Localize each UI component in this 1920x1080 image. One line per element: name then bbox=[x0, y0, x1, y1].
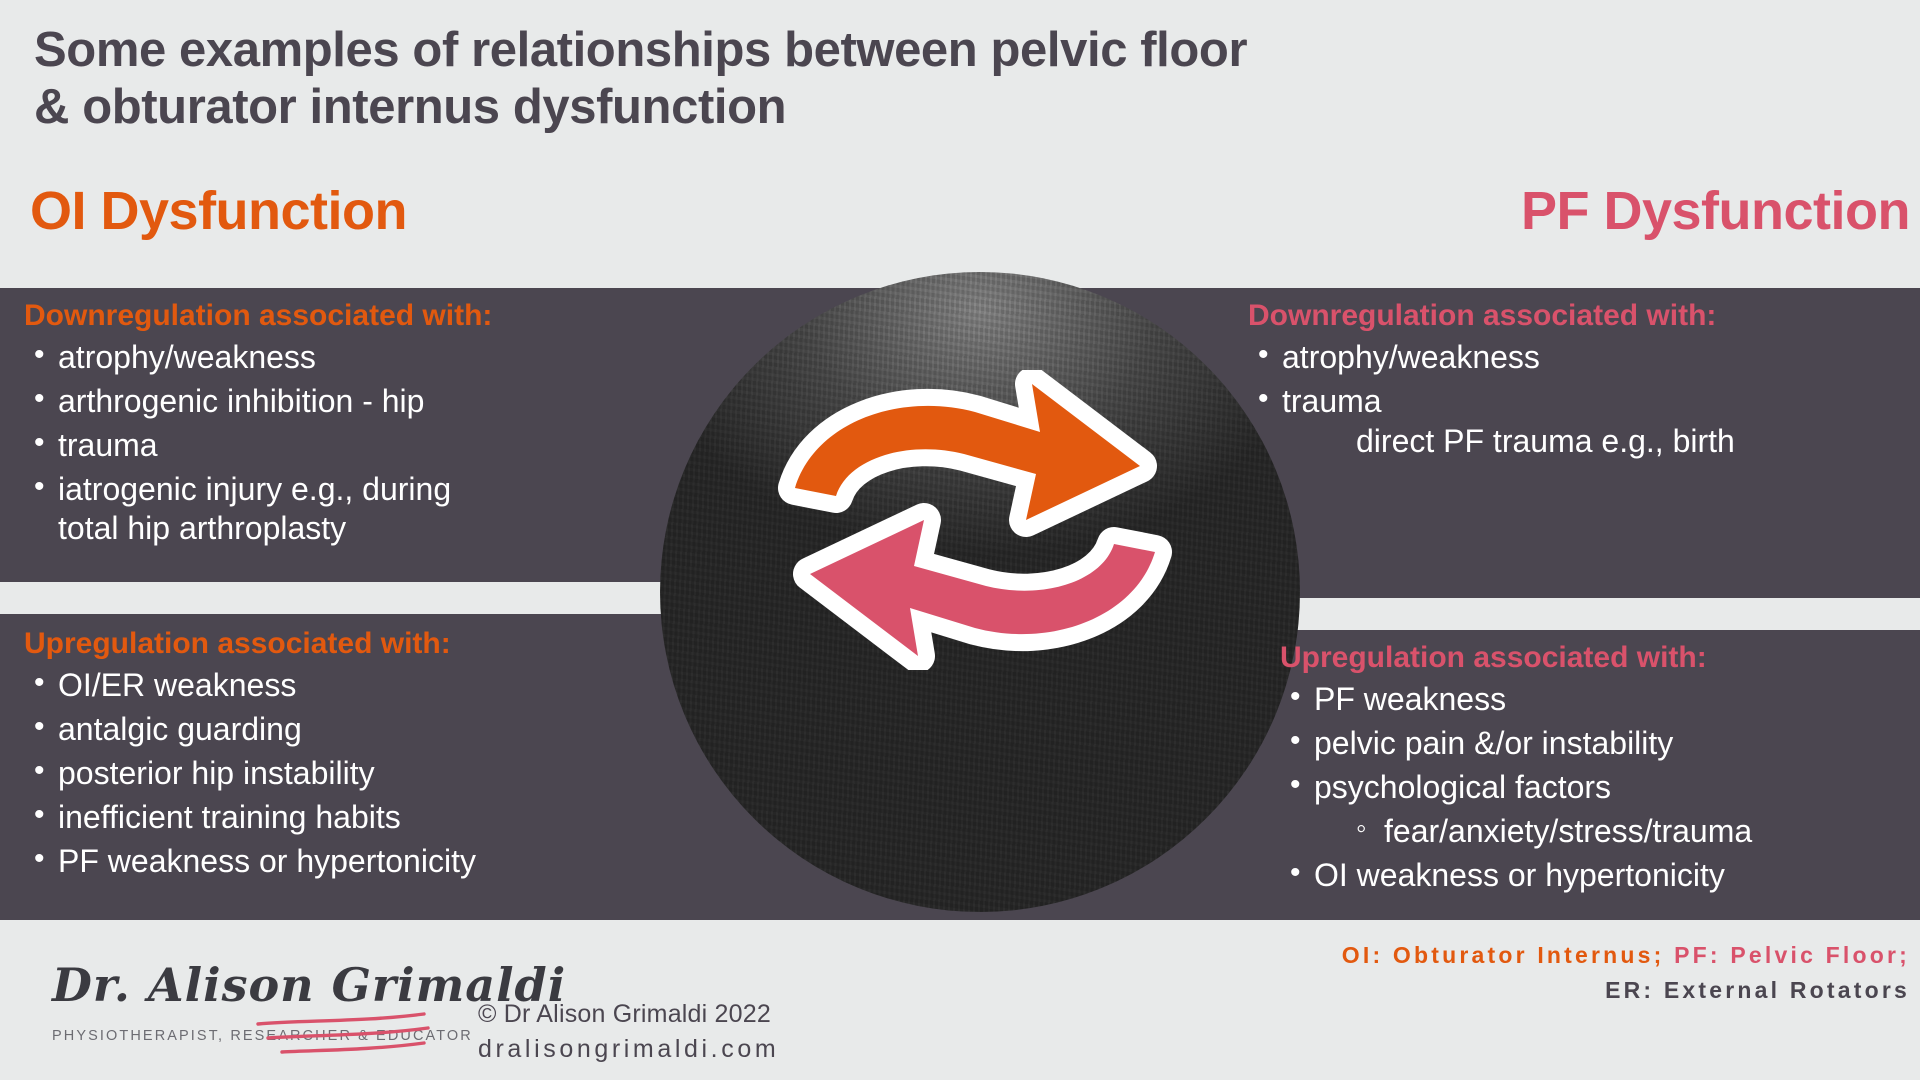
section-heading: Downregulation associated with: bbox=[24, 300, 644, 332]
list-item: OI/ER weakness bbox=[24, 666, 664, 705]
list-item: arthrogenic inhibition - hip bbox=[24, 382, 644, 421]
section-heading: Downregulation associated with: bbox=[1248, 300, 1920, 332]
abbreviation-legend: OI: Obturator Internus; PF: Pelvic Floor… bbox=[1342, 938, 1910, 1007]
bullet-list: OI/ER weakness antalgic guarding posteri… bbox=[24, 666, 664, 881]
section-heading: Upregulation associated with: bbox=[24, 628, 664, 660]
list-item: posterior hip instability bbox=[24, 754, 664, 793]
legend-er: ER: External Rotators bbox=[1605, 977, 1910, 1003]
signature-swoosh-icon bbox=[252, 1010, 442, 1070]
list-item: antalgic guarding bbox=[24, 710, 664, 749]
page-title: Some examples of relationships between p… bbox=[34, 22, 1247, 137]
bullet-list: atrophy/weakness trauma direct PF trauma… bbox=[1248, 338, 1920, 461]
column-heading-oi: OI Dysfunction bbox=[30, 180, 407, 242]
website-url[interactable]: dralisongrimaldi.com bbox=[478, 1035, 779, 1064]
legend-oi: OI: Obturator Internus; bbox=[1342, 942, 1665, 968]
infographic-canvas: Some examples of relationships between p… bbox=[0, 0, 1920, 1080]
section-left-downregulation: Downregulation associated with: atrophy/… bbox=[24, 300, 644, 548]
list-item: pelvic pain &/or instability bbox=[1280, 724, 1920, 763]
section-right-downregulation: Downregulation associated with: atrophy/… bbox=[1248, 300, 1920, 461]
list-item: atrophy/weakness bbox=[24, 338, 644, 377]
list-item: trauma bbox=[24, 426, 644, 465]
bullet-list: atrophy/weakness arthrogenic inhibition … bbox=[24, 338, 644, 548]
list-item: PF weakness or hypertonicity bbox=[24, 842, 664, 881]
list-item: atrophy/weakness bbox=[1248, 338, 1920, 377]
list-item-sub: fear/anxiety/stress/trauma bbox=[1280, 812, 1920, 851]
copyright-text: © Dr Alison Grimaldi 2022 bbox=[478, 1000, 779, 1029]
list-item: trauma bbox=[1248, 382, 1920, 421]
list-item: inefficient training habits bbox=[24, 798, 664, 837]
bullet-list: PF weakness pelvic pain &/or instability… bbox=[1280, 680, 1920, 895]
list-item: iatrogenic injury e.g., during total hip… bbox=[24, 470, 644, 548]
column-heading-pf: PF Dysfunction bbox=[1521, 180, 1910, 242]
signature-text: Dr. Alison Grimaldi bbox=[52, 958, 452, 1012]
section-heading: Upregulation associated with: bbox=[1280, 642, 1920, 674]
legend-pf: PF: Pelvic Floor; bbox=[1674, 942, 1910, 968]
credit-block: © Dr Alison Grimaldi 2022 dralisongrimal… bbox=[478, 1000, 779, 1064]
list-item: PF weakness bbox=[1280, 680, 1920, 719]
section-right-upregulation: Upregulation associated with: PF weaknes… bbox=[1280, 642, 1920, 895]
two-way-cycle-arrows-icon bbox=[740, 370, 1210, 670]
list-item-sub: direct PF trauma e.g., birth bbox=[1248, 422, 1920, 461]
brand-logo: Dr. Alison Grimaldi PHYSIOTHERAPIST, RES… bbox=[52, 958, 452, 1044]
section-left-upregulation: Upregulation associated with: OI/ER weak… bbox=[24, 628, 664, 881]
list-item: OI weakness or hypertonicity bbox=[1280, 856, 1920, 895]
list-item: psychological factors bbox=[1280, 768, 1920, 807]
